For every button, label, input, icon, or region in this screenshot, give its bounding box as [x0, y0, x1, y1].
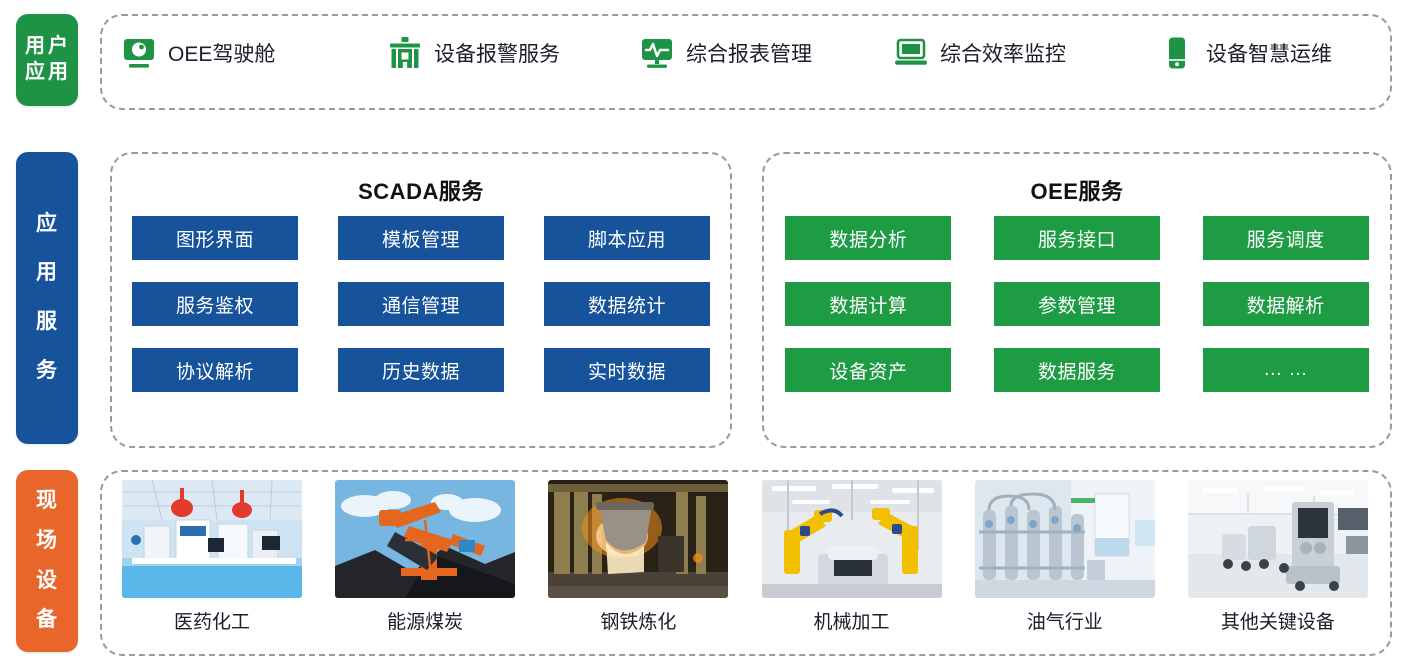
- oil-gas-plant-photo: [975, 480, 1155, 598]
- scada-service-panel: SCADA服务 图形界面 模板管理 脚本应用 服务鉴权 通信管理 数据统计 协议…: [110, 152, 732, 448]
- tab-char: 户: [48, 34, 69, 60]
- field-device-label: 油气行业: [1027, 607, 1103, 634]
- field-device-label: 钢铁炼化: [600, 607, 676, 634]
- service-chip[interactable]: 数据分析: [785, 216, 951, 260]
- service-chip[interactable]: 数据解析: [1203, 282, 1369, 326]
- field-device-label: 其他关键设备: [1221, 607, 1335, 634]
- scada-panel-title: SCADA服务: [112, 174, 730, 206]
- service-chip[interactable]: 通信管理: [338, 282, 504, 326]
- app-item-report-management[interactable]: 综合报表管理: [640, 36, 812, 70]
- app-label: 综合效率监控: [940, 38, 1066, 68]
- tab-char: 设: [36, 568, 58, 595]
- field-device-item[interactable]: 钢铁炼化: [540, 480, 736, 634]
- service-chip[interactable]: 实时数据: [544, 348, 710, 392]
- steel-ladle-photo: [548, 480, 728, 598]
- oee-service-panel: OEE服务 数据分析 服务接口 服务调度 数据计算 参数管理 数据解析 设备资产…: [762, 152, 1392, 448]
- field-device-item[interactable]: 其他关键设备: [1180, 480, 1376, 634]
- field-device-label: 机械加工: [814, 607, 890, 634]
- field-device-item[interactable]: 机械加工: [754, 480, 950, 634]
- field-device-item[interactable]: 能源煤炭: [327, 480, 523, 634]
- factory-alarm-icon: [388, 36, 422, 70]
- oee-chip-grid: 数据分析 服务接口 服务调度 数据计算 参数管理 数据解析 设备资产 数据服务 …: [764, 216, 1390, 392]
- app-item-equipment-alarm-service[interactable]: 设备报警服务: [388, 36, 560, 70]
- architecture-diagram: 用 户 应 用 应 用 服 务 现 场 设 备: [0, 0, 1405, 666]
- service-chip[interactable]: 设备资产: [785, 348, 951, 392]
- robot-assembly-photo: [762, 480, 942, 598]
- field-device-label: 医药化工: [174, 607, 250, 634]
- scada-chip-grid: 图形界面 模板管理 脚本应用 服务鉴权 通信管理 数据统计 协议解析 历史数据 …: [112, 216, 730, 392]
- service-chip[interactable]: 服务鉴权: [132, 282, 298, 326]
- app-item-oee-cockpit[interactable]: OEE驾驶舱: [122, 36, 275, 70]
- service-chip[interactable]: 协议解析: [132, 348, 298, 392]
- tab-char: 备: [36, 607, 58, 634]
- tab-char: 用: [48, 60, 69, 86]
- service-chip[interactable]: 模板管理: [338, 216, 504, 260]
- pharmaceutical-lab-photo: [122, 480, 302, 598]
- layer-tab-field-devices: 现 场 设 备: [16, 470, 78, 652]
- cleanroom-equipment-photo: [1188, 480, 1368, 598]
- pulse-monitor-icon: [640, 36, 674, 70]
- service-chip[interactable]: 历史数据: [338, 348, 504, 392]
- tab-char: 服: [36, 309, 58, 336]
- app-label: 设备报警服务: [434, 38, 560, 68]
- oee-panel-title: OEE服务: [764, 174, 1390, 206]
- tab-char: 现: [36, 488, 58, 515]
- service-chip[interactable]: 参数管理: [994, 282, 1160, 326]
- service-chip[interactable]: 图形界面: [132, 216, 298, 260]
- tab-char: 务: [36, 358, 58, 385]
- app-item-efficiency-monitoring[interactable]: 综合效率监控: [894, 36, 1066, 70]
- monitor-eye-icon: [122, 36, 156, 70]
- service-chip[interactable]: 数据计算: [785, 282, 951, 326]
- service-chip[interactable]: … …: [1203, 348, 1369, 392]
- app-label: 综合报表管理: [686, 38, 812, 68]
- layer-tab-application-services: 应 用 服 务: [16, 152, 78, 444]
- service-chip[interactable]: 数据统计: [544, 282, 710, 326]
- tab-char: 场: [36, 528, 58, 555]
- field-device-item[interactable]: 医药化工: [114, 480, 310, 634]
- field-device-label: 能源煤炭: [387, 607, 463, 634]
- tab-char: 用: [25, 34, 46, 60]
- tab-char: 应: [25, 60, 46, 86]
- service-chip[interactable]: 服务接口: [994, 216, 1160, 260]
- app-label: OEE驾驶舱: [168, 38, 275, 68]
- tab-char: 应: [36, 211, 58, 238]
- app-label: 设备智慧运维: [1206, 38, 1332, 68]
- field-device-item[interactable]: 油气行业: [967, 480, 1163, 634]
- coal-stacker-photo: [335, 480, 515, 598]
- laptop-icon: [894, 36, 928, 70]
- service-chip[interactable]: 服务调度: [1203, 216, 1369, 260]
- tab-char: 用: [36, 260, 58, 287]
- field-device-list: 医药化工: [114, 480, 1376, 646]
- service-chip[interactable]: 脚本应用: [544, 216, 710, 260]
- mobile-phone-icon: [1160, 36, 1194, 70]
- service-chip[interactable]: 数据服务: [994, 348, 1160, 392]
- layer-tab-user-application: 用 户 应 用: [16, 14, 78, 106]
- app-item-smart-maintenance[interactable]: 设备智慧运维: [1160, 36, 1332, 70]
